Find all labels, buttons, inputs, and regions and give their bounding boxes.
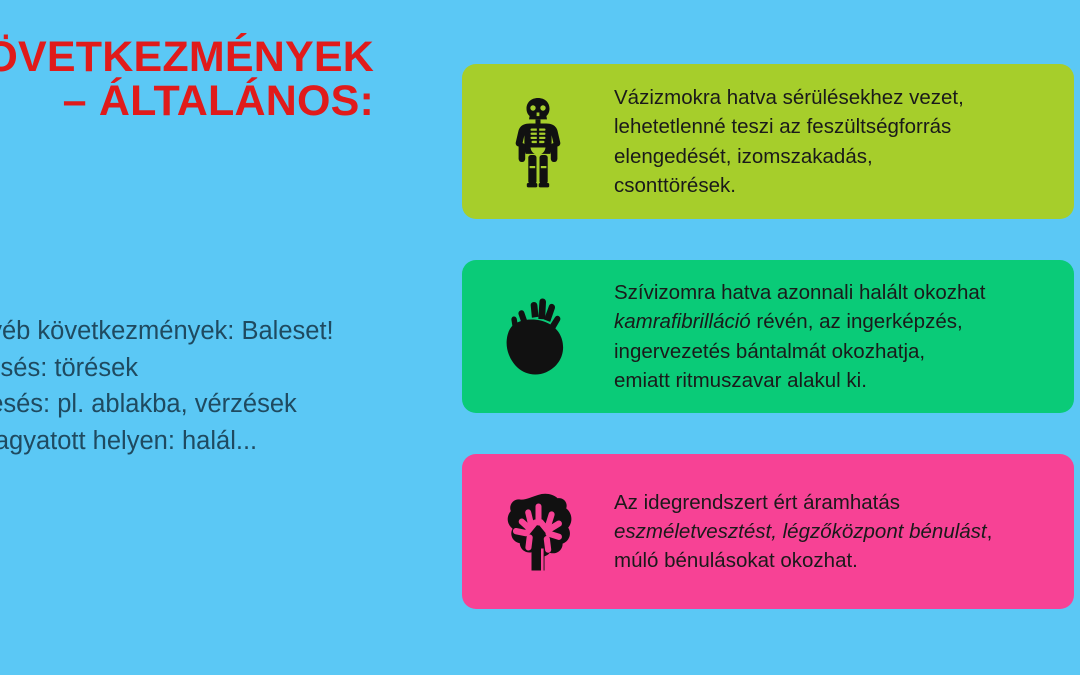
- card-text-line: múló bénulásokat okozhat.: [614, 546, 1048, 575]
- list-item: Elhagyatott helyen: halál...: [0, 423, 358, 460]
- card-text-line: eszméletvesztést, légzőközpont bénulást,: [614, 517, 1048, 546]
- left-consequences-list: Egyéb következmények: Baleset! Leesés: t…: [0, 313, 358, 460]
- page-title-line-2: – ÁLTALÁNOS:: [0, 80, 374, 124]
- card-neurological: Az idegrendszert ért áramhatás eszméletv…: [462, 454, 1074, 609]
- page-title: KÖVETKEZMÉNYEK – ÁLTALÁNOS:: [0, 36, 374, 124]
- card-text-line: Vázizmokra hatva sérülésekhez vezet,: [614, 83, 1048, 112]
- list-item: Egyéb következmények: Baleset!: [0, 313, 358, 350]
- card-text-line: Az idegrendszert ért áramhatás: [614, 488, 1048, 517]
- card-neurological-text: Az idegrendszert ért áramhatás eszméletv…: [614, 488, 1074, 576]
- list-item: Leesés: törések: [0, 350, 358, 387]
- card-text-line: kamrafibrilláció révén, az ingerképzés,: [614, 307, 1048, 336]
- skeleton-icon: [462, 96, 614, 188]
- card-text-line: Szívizomra hatva azonnali halált okozhat: [614, 278, 1048, 307]
- card-text-line: lehetetlenné teszi az feszültségforrás: [614, 112, 1048, 141]
- card-text-line: ingervezetés bántalmát okozhatja,: [614, 337, 1048, 366]
- card-text-line: elengedését, izomszakadás,: [614, 142, 1048, 171]
- list-item: Beesés: pl. ablakba, vérzések: [0, 386, 358, 423]
- card-cardiac: Szívizomra hatva azonnali halált okozhat…: [462, 260, 1074, 413]
- card-cardiac-text: Szívizomra hatva azonnali halált okozhat…: [614, 278, 1074, 395]
- slide-canvas: KÖVETKEZMÉNYEK – ÁLTALÁNOS: Egyéb követk…: [0, 0, 1080, 675]
- card-musculoskeletal: Vázizmokra hatva sérülésekhez vezet, leh…: [462, 64, 1074, 219]
- card-text-line: emiatt ritmuszavar alakul ki.: [614, 366, 1048, 395]
- card-text-line: csonttörések.: [614, 171, 1048, 200]
- page-title-line-1: KÖVETKEZMÉNYEK: [0, 36, 374, 80]
- heart-icon: [462, 296, 614, 378]
- card-musculoskeletal-text: Vázizmokra hatva sérülésekhez vezet, leh…: [614, 83, 1074, 200]
- brain-icon: [462, 492, 614, 572]
